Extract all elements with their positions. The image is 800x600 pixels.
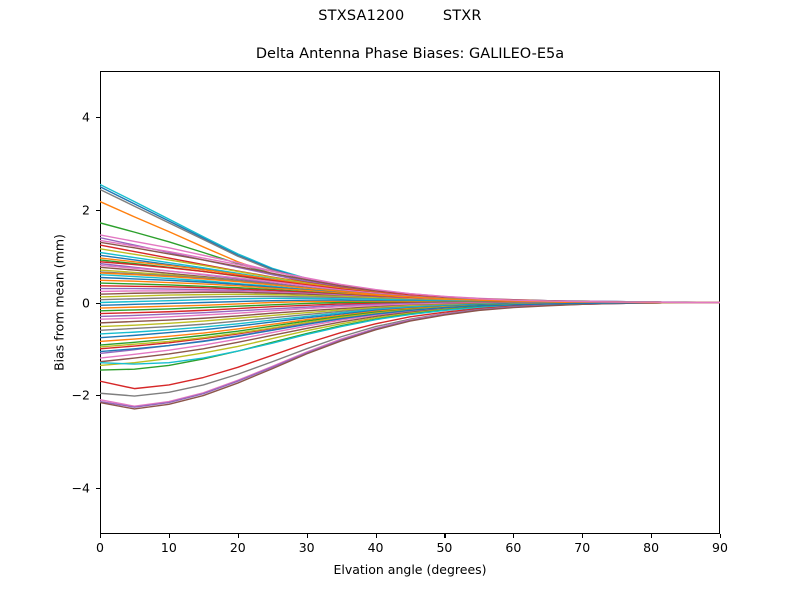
series-group	[100, 184, 720, 409]
series-line	[100, 303, 720, 352]
x-tick-label: 60	[488, 540, 538, 555]
line-plot-area	[100, 71, 720, 534]
figure-suptitle: STXSA1200 STXR	[0, 8, 800, 24]
x-tick-mark	[513, 534, 514, 538]
y-tick-label: 4	[50, 110, 90, 125]
x-tick-mark	[651, 534, 652, 538]
x-tick-label: 50	[419, 540, 469, 555]
y-tick-mark	[96, 303, 100, 304]
y-tick-label: −4	[50, 480, 90, 495]
x-tick-mark	[100, 534, 101, 538]
x-tick-label: 0	[75, 540, 125, 555]
x-tick-mark	[376, 534, 377, 538]
x-tick-label: 40	[351, 540, 401, 555]
series-line	[100, 184, 720, 302]
series-line	[100, 187, 720, 303]
y-tick-mark	[96, 488, 100, 489]
x-tick-label: 70	[557, 540, 607, 555]
x-tick-mark	[582, 534, 583, 538]
x-tick-label: 10	[144, 540, 194, 555]
x-tick-label: 30	[282, 540, 332, 555]
x-tick-mark	[720, 534, 721, 538]
y-tick-mark	[96, 117, 100, 118]
x-tick-label: 80	[626, 540, 676, 555]
x-tick-mark	[169, 534, 170, 538]
chart-title: Delta Antenna Phase Biases: GALILEO-E5a	[100, 46, 720, 62]
figure-canvas: STXSA1200 STXR Delta Antenna Phase Biase…	[0, 0, 800, 600]
x-tick-label: 90	[695, 540, 745, 555]
x-tick-mark	[238, 534, 239, 538]
x-tick-label: 20	[213, 540, 263, 555]
x-axis-label: Elvation angle (degrees)	[100, 562, 720, 577]
y-tick-mark	[96, 210, 100, 211]
x-tick-mark	[307, 534, 308, 538]
x-tick-mark	[444, 534, 445, 538]
y-axis-label: Bias from mean (mm)	[52, 203, 67, 403]
y-tick-mark	[96, 395, 100, 396]
